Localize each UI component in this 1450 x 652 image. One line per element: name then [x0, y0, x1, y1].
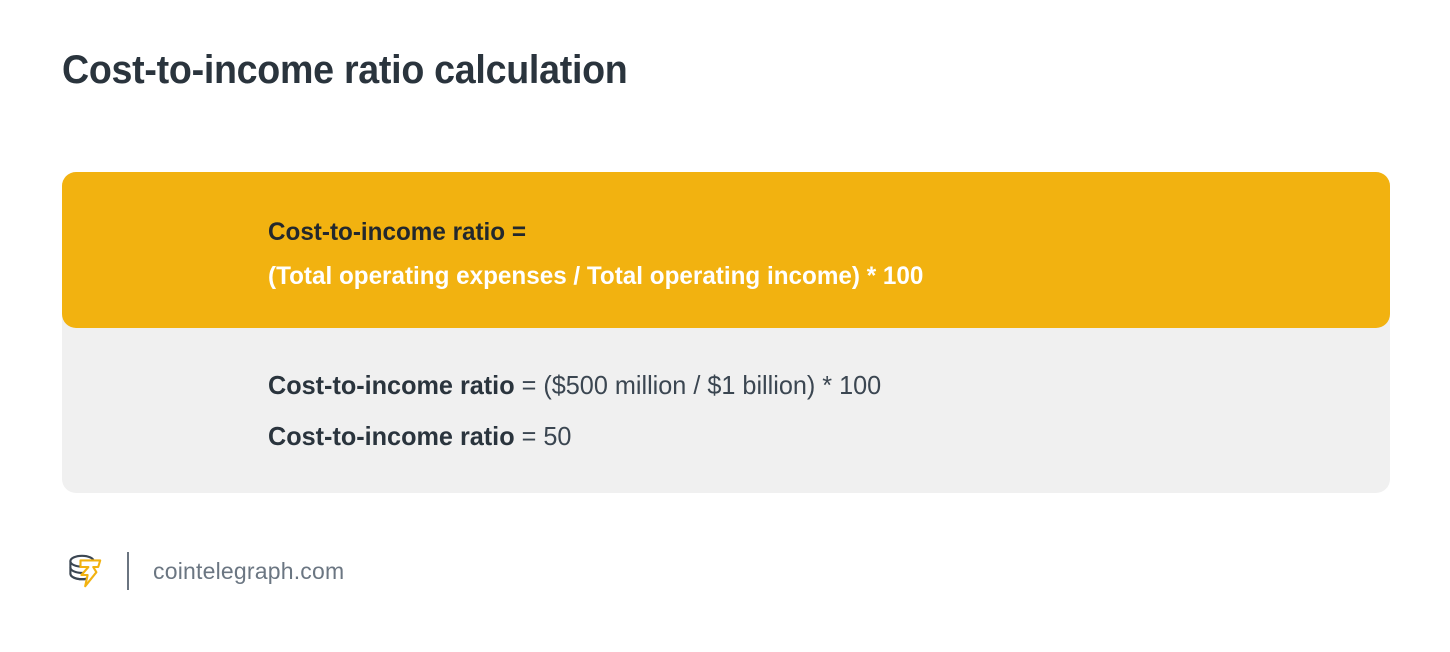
formula-banner-text: Cost-to-income ratio = (Total operating …: [268, 210, 1366, 298]
page-title: Cost-to-income ratio calculation: [62, 47, 627, 93]
formula-body-row-value: = ($500 million / $1 billion) * 100: [515, 370, 882, 400]
formula-body-row-value: = 50: [515, 421, 572, 451]
infographic-page: Cost-to-income ratio calculation Cost-to…: [0, 0, 1450, 652]
cointelegraph-coin-stack-bolt-icon: [62, 548, 108, 594]
formula-body-row: Cost-to-income ratio = ($500 million / $…: [268, 360, 1333, 411]
formula-body-row-label: Cost-to-income ratio: [268, 421, 515, 451]
footer-site-label: cointelegraph.com: [153, 558, 344, 585]
formula-banner-line-2: (Total operating expenses / Total operat…: [268, 254, 1333, 298]
formula-body-row-label: Cost-to-income ratio: [268, 370, 515, 400]
formula-body-row: Cost-to-income ratio = 50: [268, 411, 1333, 462]
footer: cointelegraph.com: [62, 545, 344, 597]
formula-body-text: Cost-to-income ratio = ($500 million / $…: [268, 360, 1366, 462]
footer-divider: [127, 552, 129, 590]
formula-banner-line-1: Cost-to-income ratio =: [268, 210, 1333, 254]
formula-card: Cost-to-income ratio = (Total operating …: [62, 172, 1390, 493]
